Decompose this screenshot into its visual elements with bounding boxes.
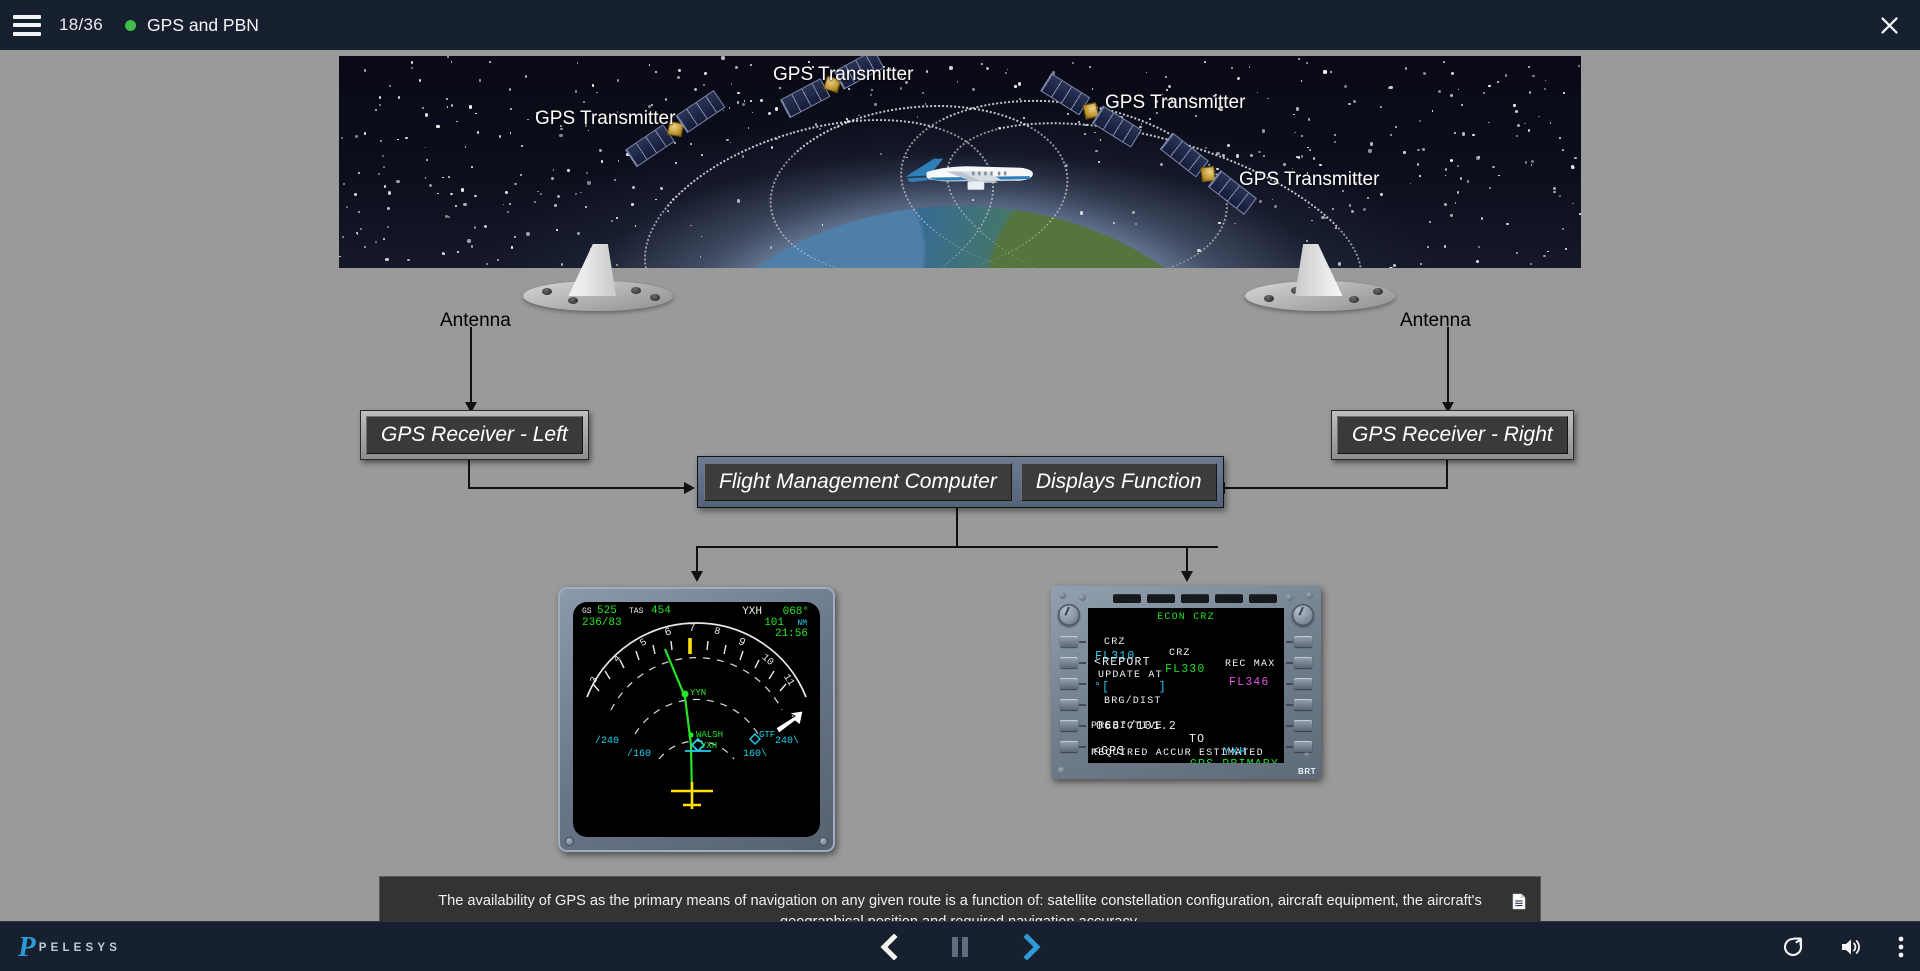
star <box>378 173 380 175</box>
star <box>477 131 479 133</box>
star <box>1571 165 1574 168</box>
mcdu-accuracy-headers: REQUIRED ACCUR ESTIMATED <box>1091 748 1284 759</box>
star <box>479 79 481 81</box>
hamburger-icon[interactable] <box>13 15 41 36</box>
screw <box>1059 592 1066 599</box>
star <box>457 251 459 253</box>
star <box>1301 135 1303 137</box>
star <box>388 191 391 194</box>
star <box>726 139 728 141</box>
star <box>592 84 594 86</box>
nd-gs-value: 525 <box>597 605 617 617</box>
screw <box>1286 594 1293 601</box>
volume-icon[interactable] <box>1839 935 1864 959</box>
nd-vor-gtf: GTF <box>759 730 775 740</box>
mcdu-top-key[interactable] <box>1215 594 1243 603</box>
screw <box>565 837 574 846</box>
replay-icon[interactable] <box>1781 935 1805 959</box>
chevron-right-icon[interactable] <box>1020 934 1044 960</box>
star <box>556 229 558 231</box>
lsk-l2[interactable] <box>1060 657 1078 668</box>
star <box>1451 72 1453 74</box>
star <box>1419 175 1421 177</box>
star <box>398 96 400 98</box>
star <box>442 252 444 254</box>
arrowhead <box>1181 571 1193 582</box>
star <box>497 259 499 261</box>
star <box>375 241 377 243</box>
star <box>1298 58 1300 60</box>
star <box>1263 155 1265 157</box>
lsk-dash <box>1079 662 1086 664</box>
lsk-dash <box>1286 662 1293 664</box>
star <box>690 143 692 145</box>
star <box>1443 61 1445 63</box>
star <box>455 205 457 207</box>
star <box>632 186 634 188</box>
star <box>926 70 928 72</box>
pause-glyph <box>949 934 971 960</box>
brightness-knob-right[interactable] <box>1292 604 1314 626</box>
star <box>467 239 470 242</box>
star <box>1417 163 1419 165</box>
star <box>1231 67 1233 69</box>
page-title: GPS and PBN <box>147 15 259 36</box>
lsk-dash <box>1286 746 1293 748</box>
star <box>1565 248 1567 250</box>
star <box>1422 148 1425 151</box>
nd-gs-label: GS <box>582 607 592 616</box>
lsk-l3[interactable] <box>1060 678 1078 689</box>
mcdu-update-at-field[interactable]: °[ ] <box>1094 681 1284 694</box>
star <box>510 108 512 110</box>
more-vertical-icon[interactable] <box>1898 935 1904 959</box>
document-icon[interactable] <box>1512 893 1526 910</box>
star <box>1529 91 1531 93</box>
star <box>463 203 466 206</box>
star <box>387 226 389 228</box>
star <box>1457 165 1459 167</box>
star <box>575 90 577 92</box>
transport-controls <box>0 922 1920 971</box>
star <box>1018 82 1021 85</box>
fmc-displays-group[interactable]: Flight Management Computer Displays Func… <box>697 456 1224 508</box>
star <box>554 204 556 206</box>
lsk-dash <box>1079 704 1086 706</box>
star <box>1014 85 1016 87</box>
star <box>1423 72 1426 75</box>
star <box>387 207 390 210</box>
mcdu-accuracy-values: 2.0NM HIGH 0.11NM <box>1088 759 1284 763</box>
lsk-dash <box>1079 746 1086 748</box>
connector-antenna-right <box>1447 327 1449 409</box>
star <box>1380 106 1382 108</box>
screw <box>1079 594 1086 601</box>
nd-waypoint-ident: YXH <box>742 606 762 618</box>
star <box>426 159 428 161</box>
star <box>1237 77 1240 80</box>
nd-range-left-240: /240 <box>595 736 619 747</box>
nd-waypoint-walsh: WALSH <box>696 730 723 740</box>
arrowhead <box>691 571 703 582</box>
lsk-dash <box>1079 725 1086 727</box>
connector-antenna-left <box>470 327 472 409</box>
lsk-dash <box>1286 704 1293 706</box>
antenna-left <box>523 253 673 311</box>
star <box>1380 193 1383 196</box>
connector-recv-left-h <box>468 487 693 489</box>
star <box>922 92 924 94</box>
prev-glyph <box>876 934 900 960</box>
mcdu-top-key[interactable] <box>1147 594 1175 603</box>
nd-range-right-160: 160\ <box>743 749 767 760</box>
gps-constellation-illustration: GPS Transmitter GPS Transmitter GPS Tran… <box>339 56 1581 268</box>
lsk-dash <box>1286 683 1293 685</box>
mcdu-top-key[interactable] <box>1249 594 1277 603</box>
star <box>1149 118 1151 120</box>
star <box>703 84 705 86</box>
star <box>1457 191 1459 193</box>
star <box>1450 214 1452 216</box>
nd-waypoint-yyn: YYN <box>690 688 706 698</box>
replay-glyph <box>1781 935 1805 959</box>
connector-fmc-split <box>696 546 1218 548</box>
star <box>1306 62 1308 64</box>
star <box>1543 255 1545 257</box>
bottom-bar: P PELESYS <box>0 921 1920 971</box>
star <box>1559 137 1561 139</box>
brightness-knob-left[interactable] <box>1058 604 1080 626</box>
star <box>1444 203 1447 206</box>
star <box>1481 217 1483 219</box>
more-glyph <box>1898 935 1904 959</box>
star <box>1308 118 1310 120</box>
arrowhead <box>684 482 695 494</box>
satellite-label-1: GPS Transmitter <box>535 108 675 130</box>
lsk-r2[interactable] <box>1294 657 1312 668</box>
star <box>614 179 616 181</box>
star <box>1467 180 1469 182</box>
star <box>1165 76 1167 78</box>
star <box>471 245 473 247</box>
nd-eta: 21:56 <box>775 628 808 640</box>
star <box>474 226 476 228</box>
star <box>1344 85 1346 87</box>
star <box>1454 132 1456 134</box>
nd-tas-label: TAS <box>629 607 643 616</box>
star <box>651 104 653 106</box>
star <box>616 217 618 219</box>
star <box>779 87 781 89</box>
gps-receiver-left-label: GPS Receiver - Left <box>366 416 583 454</box>
satellite-label-2: GPS Transmitter <box>773 64 913 86</box>
star <box>436 125 439 128</box>
star <box>448 216 450 218</box>
lsk-l6[interactable] <box>1060 741 1078 752</box>
screw <box>1058 767 1065 774</box>
star <box>1460 177 1462 179</box>
star <box>407 259 409 261</box>
star <box>525 75 527 77</box>
star <box>1444 245 1446 247</box>
star <box>364 69 366 71</box>
mcdu-top-key[interactable] <box>1181 594 1209 603</box>
star <box>1166 89 1168 91</box>
star <box>750 64 752 66</box>
star <box>1531 160 1534 163</box>
connector-fmc-stem <box>956 505 958 547</box>
mcdu-report-prompt[interactable]: <REPORT <box>1094 656 1284 669</box>
antenna-right <box>1245 253 1395 311</box>
star <box>1367 197 1369 199</box>
star <box>1403 151 1405 153</box>
navigation-display-screen: GS 525 TAS 454 236/83 YXH 068° 101 NM 21… <box>573 602 820 837</box>
star <box>1462 132 1465 135</box>
lsk-r4[interactable] <box>1294 699 1312 710</box>
lsk-dash <box>1286 641 1293 643</box>
star <box>601 160 603 162</box>
toolbar-right <box>1781 922 1904 971</box>
star <box>972 88 974 90</box>
star <box>448 176 450 178</box>
antenna-left-label: Antenna <box>440 310 511 332</box>
star <box>505 191 507 193</box>
nd-tick-7: 7 <box>689 623 696 635</box>
star <box>1319 164 1321 166</box>
lsk-l1[interactable] <box>1060 636 1078 647</box>
star <box>411 67 413 69</box>
lsk-r1[interactable] <box>1294 636 1312 647</box>
star <box>1483 92 1485 94</box>
star <box>1072 62 1074 64</box>
mcdu-predictive-label: PREDICTIVE <box>1091 721 1284 732</box>
chevron-left-icon[interactable] <box>876 934 900 960</box>
star <box>1528 129 1530 131</box>
aircraft-illustration <box>887 146 1039 194</box>
close-icon[interactable] <box>1872 8 1906 42</box>
star <box>1445 168 1447 170</box>
star <box>382 155 384 157</box>
star <box>1370 142 1373 145</box>
star <box>665 98 667 100</box>
mcdu-unit[interactable]: ECON CRZ CRZ CRZ REC MAX FL310 FL330 FL3… <box>1051 586 1321 779</box>
star <box>1349 204 1351 206</box>
slide-counter: 18/36 <box>59 15 103 35</box>
star <box>484 225 486 227</box>
lsk-dash <box>1079 683 1086 685</box>
star <box>1492 166 1494 168</box>
fmc-label: Flight Management Computer <box>704 463 1012 501</box>
mcdu-title: ECON CRZ <box>1088 612 1284 623</box>
star <box>577 232 579 234</box>
displays-function-label: Displays Function <box>1021 463 1217 501</box>
star <box>981 63 983 65</box>
nd-distance-unit: NM <box>797 619 807 628</box>
star <box>509 88 511 90</box>
star <box>871 89 873 91</box>
star <box>611 220 613 222</box>
lsk-r5[interactable] <box>1294 720 1312 731</box>
star <box>1236 154 1239 157</box>
lsk-dash <box>1079 641 1086 643</box>
star <box>1313 157 1315 159</box>
star <box>1420 263 1422 265</box>
star <box>405 137 407 139</box>
slide-stage: GPS Transmitter GPS Transmitter GPS Tran… <box>0 50 1920 921</box>
connector-recv-right-h <box>1222 487 1448 489</box>
screw <box>1306 592 1313 599</box>
star <box>586 172 588 174</box>
star <box>1505 74 1507 76</box>
star <box>379 96 381 98</box>
star <box>1497 81 1499 83</box>
star <box>384 185 386 187</box>
star <box>1309 149 1311 151</box>
star <box>587 181 590 184</box>
nd-bearing: 068° <box>783 606 809 618</box>
star <box>737 92 739 94</box>
mcdu-brg-dist-label: BRG/DIST <box>1104 696 1284 707</box>
star <box>1513 104 1515 106</box>
volume-glyph <box>1839 935 1864 959</box>
nd-range-left-160: /160 <box>627 749 651 760</box>
star <box>900 87 902 89</box>
nd-wind: 236/83 <box>582 617 622 629</box>
star <box>450 193 452 195</box>
star <box>474 195 476 197</box>
navigation-display-unit[interactable]: GS 525 TAS 454 236/83 YXH 068° 101 NM 21… <box>558 587 835 852</box>
star <box>1323 70 1326 73</box>
lsk-r6[interactable] <box>1294 741 1312 752</box>
star <box>499 135 501 137</box>
star <box>534 201 536 203</box>
nd-waypoint-yxh: YXH <box>701 741 717 751</box>
star <box>396 180 399 183</box>
star <box>808 61 810 63</box>
screw <box>819 837 828 846</box>
mcdu-screen: ECON CRZ CRZ CRZ REC MAX FL310 FL330 FL3… <box>1088 608 1284 763</box>
lsk-dash <box>1286 725 1293 727</box>
star <box>949 66 952 69</box>
star <box>721 56 724 59</box>
star <box>575 193 577 195</box>
satellite-label-4: GPS Transmitter <box>1239 169 1379 191</box>
satellite-label-3: GPS Transmitter <box>1105 92 1245 114</box>
star <box>1478 156 1480 158</box>
star <box>461 188 464 191</box>
star <box>364 132 366 134</box>
star <box>1204 61 1206 63</box>
star <box>1205 147 1207 149</box>
antenna-right-label: Antenna <box>1400 310 1471 332</box>
star <box>1506 223 1508 225</box>
star <box>1563 92 1565 94</box>
mcdu-top-key[interactable] <box>1113 594 1141 603</box>
star <box>1405 67 1407 69</box>
close-glyph <box>1879 15 1900 36</box>
star <box>526 232 529 235</box>
mcdu-update-at-label: UPDATE AT <box>1098 670 1284 681</box>
star <box>694 88 697 91</box>
top-bar: 18/36 GPS and PBN <box>0 0 1920 50</box>
star <box>775 107 778 110</box>
gps-receiver-right-box[interactable]: GPS Receiver - Right <box>1331 410 1574 460</box>
star <box>599 149 601 151</box>
nd-range-right-240: 240\ <box>775 736 799 747</box>
star <box>380 140 382 142</box>
gps-receiver-left-box[interactable]: GPS Receiver - Left <box>360 410 589 460</box>
gps-receiver-right-label: GPS Receiver - Right <box>1337 416 1568 454</box>
lsk-l5[interactable] <box>1060 720 1078 731</box>
star <box>358 172 360 174</box>
status-dot <box>125 20 136 31</box>
brightness-label: BRT <box>1298 767 1316 776</box>
star <box>514 236 516 238</box>
star <box>750 100 752 102</box>
star <box>1368 149 1371 152</box>
pause-icon[interactable] <box>949 934 971 960</box>
next-glyph <box>1020 934 1044 960</box>
star <box>411 61 413 63</box>
lsk-r3[interactable] <box>1294 678 1312 689</box>
nd-tas-value: 454 <box>651 605 671 617</box>
star <box>511 246 513 248</box>
lsk-l4[interactable] <box>1060 699 1078 710</box>
